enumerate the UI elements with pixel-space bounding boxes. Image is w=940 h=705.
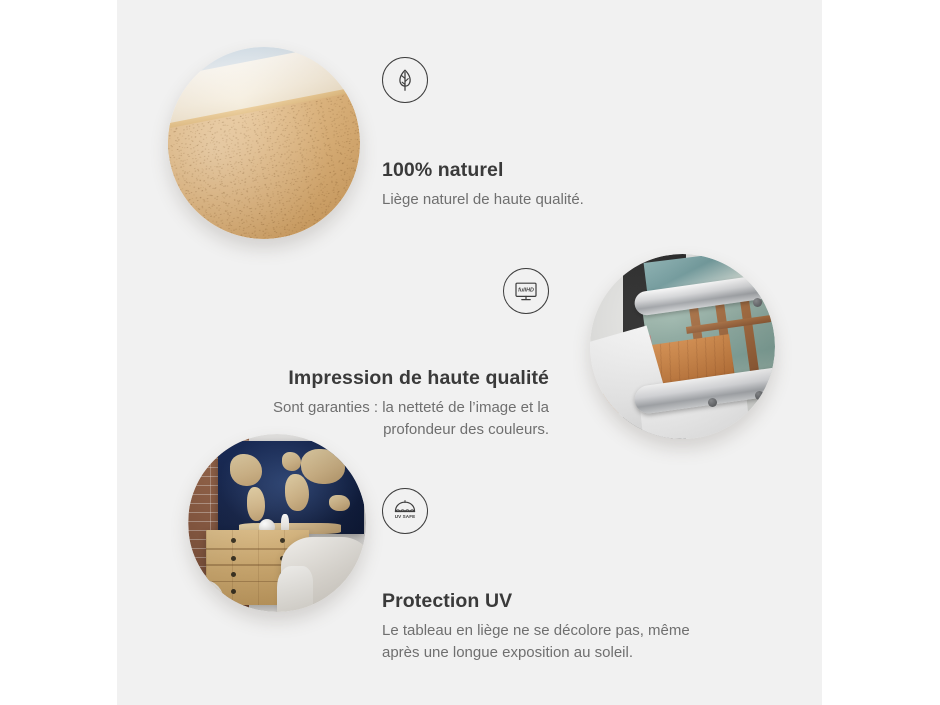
cork-texture-photo: [168, 47, 360, 239]
world-map-room-photo: [188, 434, 366, 612]
feature-print-quality-description-line1: Sont garanties : la netteté de l’image e…: [237, 397, 549, 418]
feature-natural: 100% naturel Liège naturel de haute qual…: [382, 57, 712, 211]
feature-uv-protection: UV SAFE Protection UV Le tableau en lièg…: [382, 488, 732, 663]
content-panel: 100% naturel Liège naturel de haute qual…: [117, 0, 822, 705]
feature-uv-protection-title: Protection UV: [382, 590, 732, 613]
feature-print-quality-title: Impression de haute qualité: [237, 367, 549, 390]
feature-natural-title: 100% naturel: [382, 159, 712, 182]
feature-print-quality: fullHD Impression de haute qualité Sont …: [237, 268, 549, 440]
feature-natural-description: Liège naturel de haute qualité.: [382, 189, 712, 210]
leaf-icon: [382, 57, 428, 103]
feature-uv-protection-description-line2: après une longue exposition au soleil.: [382, 642, 732, 663]
svg-text:fullHD: fullHD: [518, 288, 534, 294]
svg-text:UV SAFE: UV SAFE: [395, 514, 416, 519]
cork-photo-vignette: [168, 47, 360, 239]
large-format-printer-photo: [590, 254, 775, 439]
feature-uv-protection-description-line1: Le tableau en liège ne se décolore pas, …: [382, 620, 732, 641]
uv-safe-umbrella-icon: UV SAFE: [382, 488, 428, 534]
fullhd-monitor-icon: fullHD: [503, 268, 549, 314]
printer-photo-vignette: [590, 254, 775, 439]
room-photo-vignette: [188, 434, 366, 612]
product-feature-infographic: 100% naturel Liège naturel de haute qual…: [0, 0, 940, 705]
